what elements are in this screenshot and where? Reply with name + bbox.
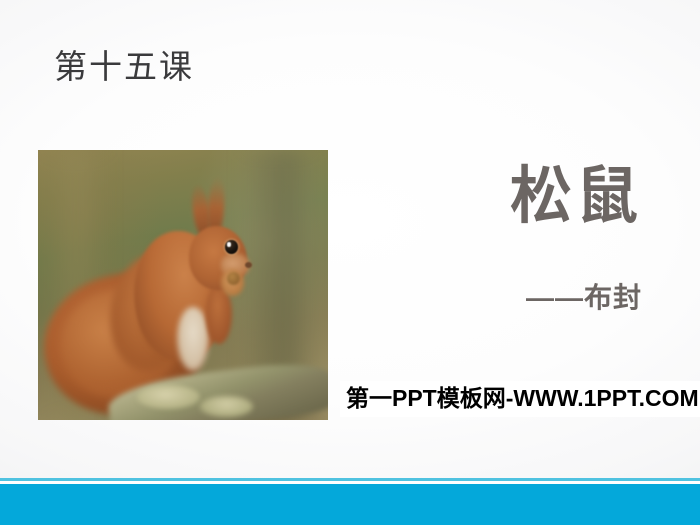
lesson-number-label: 第十五课 bbox=[54, 48, 194, 87]
branch-lichen-patch bbox=[200, 396, 252, 418]
squirrel-photo-frame bbox=[38, 150, 328, 420]
squirrel-photo-image bbox=[38, 150, 328, 420]
author-attribution: ——布封 bbox=[330, 283, 642, 314]
presentation-slide: 第十五课 松鼠 bbox=[0, 0, 700, 525]
nut-held-by-squirrel bbox=[227, 272, 240, 286]
slide-title: 松鼠 bbox=[330, 166, 642, 228]
squirrel-belly bbox=[177, 307, 209, 372]
footer-color-bar bbox=[0, 484, 700, 525]
site-watermark: 第一PPT模板网-WWW.1PPT.COM bbox=[340, 381, 700, 417]
